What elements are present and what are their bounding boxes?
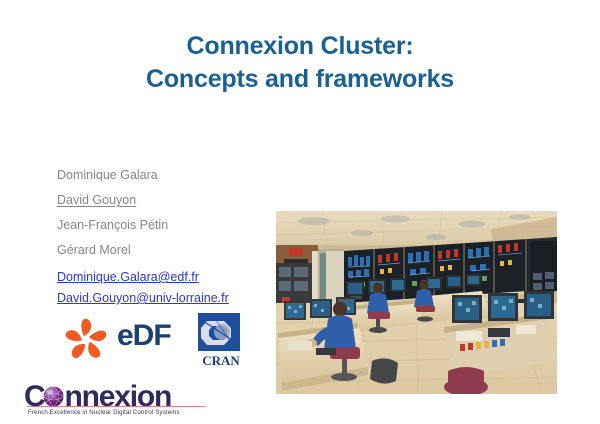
cran-wordmark: CRAN [194,353,248,369]
author-name-3: Gérard Morel [57,238,272,263]
connexion-sphere-icon [43,386,64,407]
email-link-galara[interactable]: Dominique.Galara@edf.fr [57,267,272,288]
page-title: Connexion Cluster: Concepts and framewor… [0,30,600,96]
author-name-2: Jean-François Pétin [57,213,272,238]
title-line-1: Connexion Cluster: [0,30,600,63]
email-list: Dominique.Galara@edf.fr David.Gouyon@uni… [57,267,272,309]
cran-emblem-icon [194,313,248,353]
connexion-tagline: French Excellence in Nuclear Digital Con… [28,408,180,417]
control-room-photo [276,211,557,394]
author-name-1: David Gouyon [57,188,272,213]
connexion-logo: Cnnexion French Excellence [24,382,214,422]
email-link-gouyon[interactable]: David.Gouyon@univ-lorraine.fr [57,288,272,309]
edf-wordmark: eDF [117,321,171,351]
logo-row: eDF CRAN [62,313,252,369]
author-block: Dominique Galara David Gouyon Jean-Franç… [57,163,272,309]
title-line-2: Concepts and frameworks [0,63,600,96]
author-name-0: Dominique Galara [57,163,272,188]
connexion-divider [27,406,205,407]
